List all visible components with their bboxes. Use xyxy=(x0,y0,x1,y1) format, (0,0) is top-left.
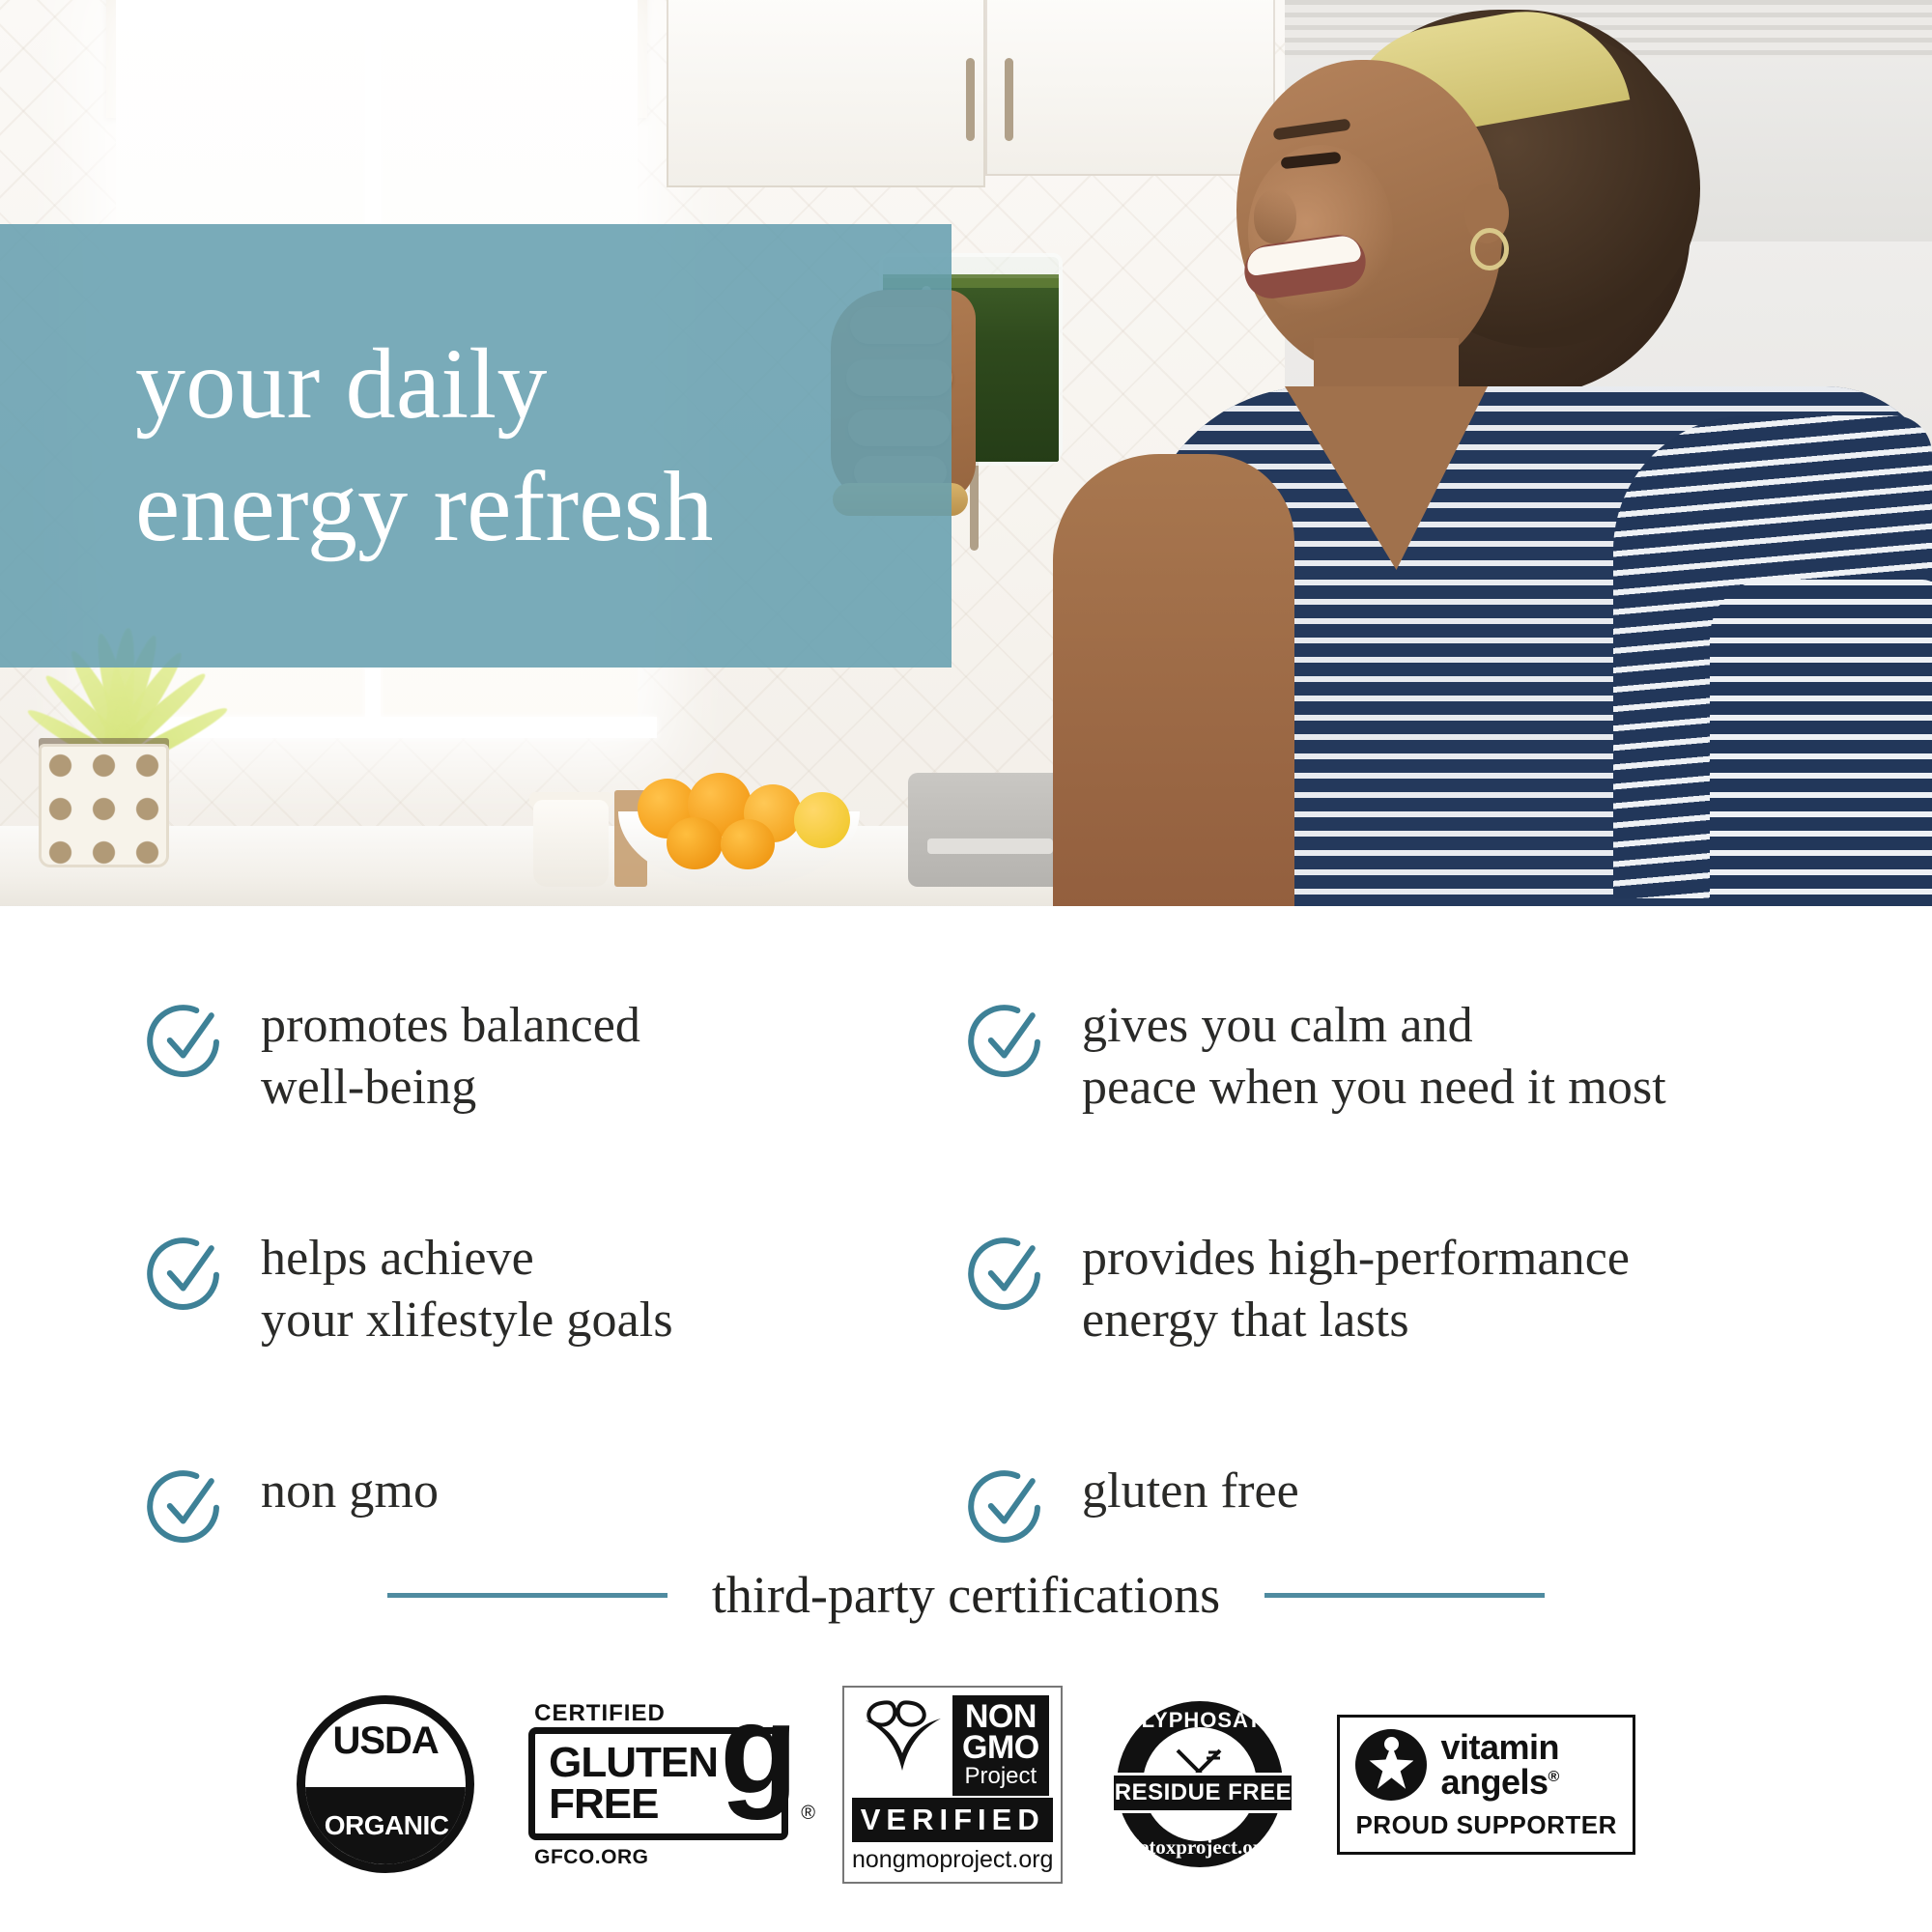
orange-fruit xyxy=(721,819,775,869)
benefit-item: gives you calm and peace when you need i… xyxy=(966,995,1787,1120)
benefits-list: promotes balanced well-being gives you c… xyxy=(0,995,1932,1548)
verified-band: VERIFIED xyxy=(852,1798,1053,1842)
benefit-line-1: provides high-performance xyxy=(1082,1231,1630,1286)
ceramic-jar xyxy=(533,800,609,887)
verified-label: VERIFIED xyxy=(861,1803,1045,1836)
gmo-label: GMO xyxy=(962,1732,1039,1763)
vitamin-angels-top-row: vitamin angels® xyxy=(1355,1729,1616,1801)
badge-usda-organic: USDA ORGANIC xyxy=(297,1695,474,1873)
orange-fruit xyxy=(667,817,723,869)
vitamin-label: vitamin xyxy=(1440,1730,1559,1765)
benefit-label: promotes balanced well-being xyxy=(261,995,640,1120)
hoop-earring xyxy=(1470,228,1509,270)
benefit-item: promotes balanced well-being xyxy=(145,995,966,1120)
gluten-free-seal: CERTIFIED GLUTEN FREE g ® GFCO.ORG xyxy=(528,1700,788,1868)
vitamin-angels-registered-mark: ® xyxy=(1548,1769,1559,1785)
page-title: your daily energy refresh xyxy=(0,324,714,569)
gf-line-1: GLUTEN xyxy=(549,1742,718,1783)
hero-photo: your daily energy refresh xyxy=(0,0,1932,906)
project-label: Project xyxy=(962,1764,1039,1788)
check-circle-icon xyxy=(145,1232,228,1315)
badge-non-gmo-project-verified: NON GMO Project VERIFIED nongmoproject.o… xyxy=(842,1686,1063,1884)
usda-bottom-label: ORGANIC xyxy=(325,1810,449,1841)
divider-rule-left xyxy=(387,1593,668,1598)
forearm xyxy=(1053,454,1294,906)
woman-drinking-green-juice xyxy=(995,0,1932,906)
certification-badges: USDA ORGANIC CERTIFIED GLUTEN FREE g ® xyxy=(0,1686,1932,1884)
benefit-item: gluten free xyxy=(966,1461,1787,1548)
gf-line-2: FREE xyxy=(549,1783,718,1825)
butterfly-leaf-icon xyxy=(852,1695,952,1773)
benefit-line-1: promotes balanced xyxy=(261,998,640,1053)
benefit-label: gluten free xyxy=(1082,1461,1299,1522)
cabinet-handle-left xyxy=(966,58,975,141)
gf-url-label: GFCO.ORG xyxy=(534,1846,648,1869)
non-gmo-seal: NON GMO Project VERIFIED nongmoproject.o… xyxy=(842,1686,1063,1884)
plant-pot-pattern xyxy=(39,744,169,867)
benefit-line-2: energy that lasts xyxy=(1082,1293,1409,1348)
benefit-item: non gmo xyxy=(145,1461,966,1548)
check-circle-icon xyxy=(145,1464,228,1548)
benefit-line-2: your xlifestyle goals xyxy=(261,1293,673,1348)
detoxproject-url-label: detoxproject.org xyxy=(1117,1835,1283,1860)
angels-label: angels xyxy=(1440,1762,1548,1802)
usda-top-label: USDA xyxy=(332,1719,438,1763)
plant-pot xyxy=(39,744,169,867)
proud-supporter-label: PROUD SUPPORTER xyxy=(1355,1810,1616,1840)
glyphosate-seal: GLYPHOSATE RESIDUE FREE detoxproject.org xyxy=(1117,1701,1283,1867)
benefit-label: provides high-performance energy that la… xyxy=(1082,1228,1630,1352)
residue-free-label: RESIDUE FREE xyxy=(1115,1779,1292,1806)
angel-icon xyxy=(1355,1729,1427,1801)
check-circle-icon xyxy=(966,999,1049,1082)
benefit-item: provides high-performance energy that la… xyxy=(966,1228,1787,1352)
gf-box: GLUTEN FREE g ® xyxy=(528,1727,788,1839)
check-circle-icon xyxy=(145,999,228,1082)
badge-vitamin-angels: vitamin angels® PROUD SUPPORTER xyxy=(1337,1715,1634,1855)
upper-cabinet-left xyxy=(667,0,985,187)
benefit-item: helps achieve your xlifestyle goals xyxy=(145,1228,966,1352)
rolled-sleeve xyxy=(1710,580,1932,906)
non-gmo-top-row: NON GMO Project xyxy=(852,1695,1053,1796)
non-label: NON xyxy=(962,1701,1039,1732)
vitamin-angels-wordmark: vitamin angels® xyxy=(1440,1730,1559,1800)
check-circle-icon xyxy=(966,1232,1049,1315)
gf-certified-label: CERTIFIED xyxy=(534,1700,666,1727)
benefit-label: helps achieve your xlifestyle goals xyxy=(261,1228,673,1352)
benefit-label: gives you calm and peace when you need i… xyxy=(1082,995,1666,1120)
gf-registered-mark: ® xyxy=(801,1803,815,1825)
benefit-line-1: helps achieve xyxy=(261,1231,534,1286)
usda-bottom-band: ORGANIC xyxy=(303,1787,469,1864)
nose xyxy=(1254,189,1296,243)
glyphosate-top-label: GLYPHOSATE xyxy=(1117,1708,1283,1733)
non-gmo-url-label: nongmoproject.org xyxy=(852,1846,1053,1874)
lemon-fruit xyxy=(794,792,850,848)
residue-free-band: RESIDUE FREE xyxy=(1111,1773,1294,1813)
badge-glyphosate-residue-free: GLYPHOSATE RESIDUE FREE detoxproject.org xyxy=(1117,1701,1283,1867)
usda-organic-seal: USDA ORGANIC xyxy=(297,1695,474,1873)
product-benefits-page: your daily energy refresh promotes balan… xyxy=(0,0,1932,1932)
benefit-label: non gmo xyxy=(261,1461,439,1522)
certifications-divider: third-party certifications xyxy=(0,1565,1932,1625)
badge-certified-gluten-free: CERTIFIED GLUTEN FREE g ® GFCO.ORG xyxy=(528,1700,788,1868)
certifications-title: third-party certifications xyxy=(712,1565,1220,1625)
non-gmo-text-block: NON GMO Project xyxy=(952,1695,1049,1796)
gf-g-mark: g xyxy=(720,1698,798,1801)
headline-line-1: your daily xyxy=(135,324,714,446)
headline-line-2: energy refresh xyxy=(135,446,714,569)
benefit-line-2: peace when you need it most xyxy=(1082,1060,1666,1115)
benefit-line-1: gives you calm and xyxy=(1082,998,1473,1053)
vitamin-angels-seal: vitamin angels® PROUD SUPPORTER xyxy=(1337,1715,1634,1855)
check-circle-icon xyxy=(966,1464,1049,1548)
divider-rule-right xyxy=(1264,1593,1545,1598)
angel-head xyxy=(1384,1737,1399,1751)
benefit-line-2: well-being xyxy=(261,1060,476,1115)
headline-panel: your daily energy refresh xyxy=(0,224,952,668)
